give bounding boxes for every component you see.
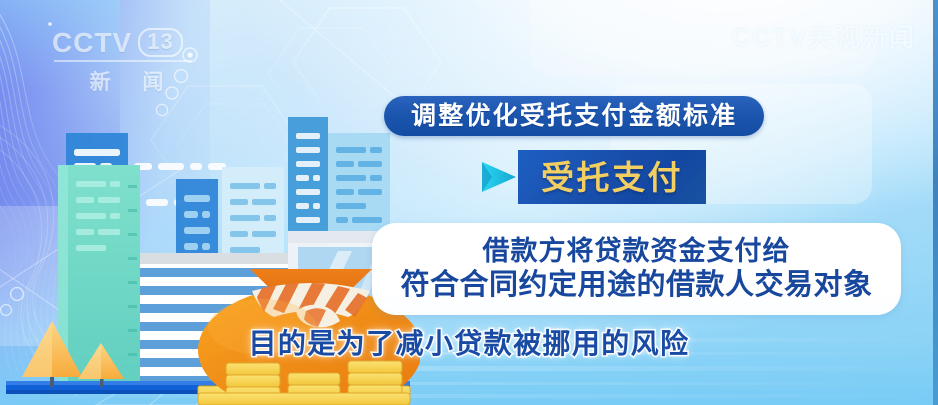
headline-banner: 调整优化受托支付金额标准 [384, 96, 764, 136]
keyword-text: 受托支付 [541, 161, 683, 194]
headline-text: 调整优化受托支付金额标准 [411, 104, 737, 129]
cctv-logo-text: CCTV [52, 29, 132, 57]
cctv-logo-rule [54, 60, 192, 62]
play-triangle-icon [476, 156, 520, 198]
keyword-box: 受托支付 [518, 150, 706, 204]
broadcast-graphic-stage: CCTV 13 新 闻 CCTV央视新闻 [0, 0, 938, 405]
footer-statement-text: 目的是为了减小贷款被挪用的风险 [248, 322, 689, 362]
cctv13-channel-logo: CCTV 13 新 闻 [52, 28, 202, 94]
footer-statement: 目的是为了减小贷款被挪用的风险 [0, 322, 938, 362]
keyword-row: 受托支付 [476, 150, 706, 204]
cctv-channel-number: 13 [138, 28, 182, 57]
corner-watermark: CCTV央视新闻 [732, 18, 916, 54]
cctv-logo-row: CCTV 13 [52, 28, 202, 57]
description-line-2: 符合合同约定用途的借款人交易对象 [400, 269, 872, 303]
description-line-1: 借款方将贷款资金支付给 [483, 236, 791, 267]
cctv-logo-subtitle: 新 闻 [52, 66, 202, 96]
description-card: 借款方将贷款资金支付给 符合合同约定用途的借款人交易对象 [372, 223, 901, 315]
